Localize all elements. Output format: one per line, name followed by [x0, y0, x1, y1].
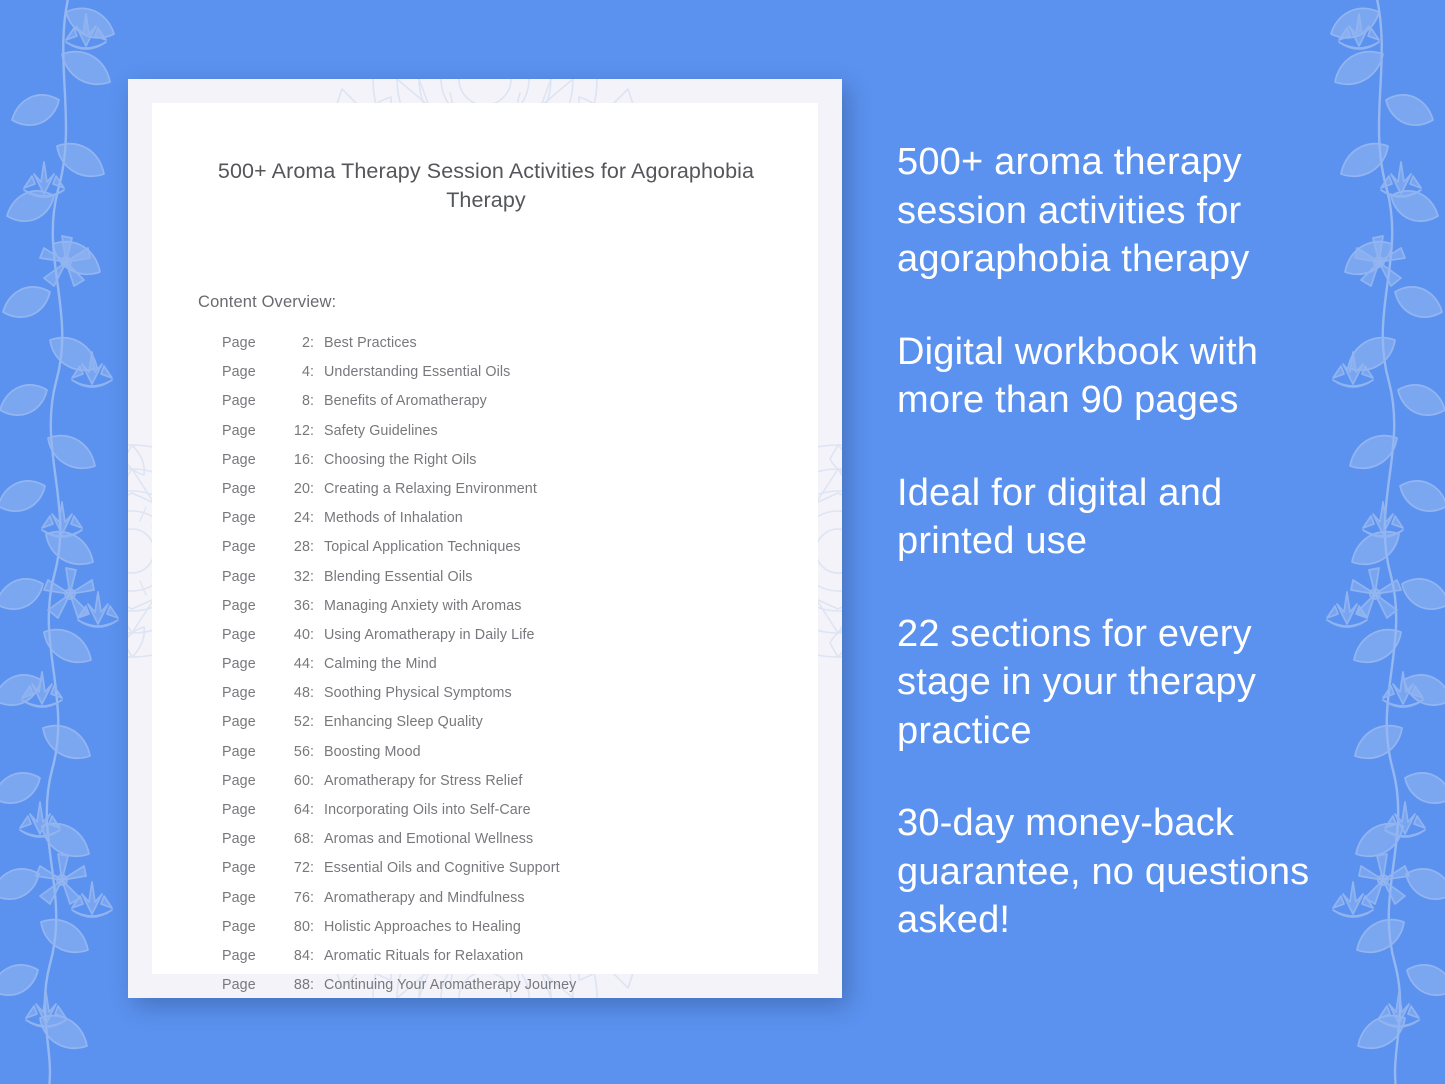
toc-entry-page-word: Page: [222, 621, 284, 650]
toc-entry-colon: :: [310, 563, 324, 592]
toc-entry: Page88:Continuing Your Aromatherapy Jour…: [222, 971, 782, 998]
toc-entry-colon: :: [310, 329, 324, 358]
toc-entry-page-number: 36: [284, 592, 310, 621]
toc-entry: Page36:Managing Anxiety with Aromas: [222, 592, 782, 621]
marketing-bullet: 500+ aroma therapy session activities fo…: [897, 138, 1327, 284]
toc-entry: Page64:Incorporating Oils into Self-Care: [222, 796, 782, 825]
toc-entry-page-word: Page: [222, 592, 284, 621]
toc-entry: Page84:Aromatic Rituals for Relaxation: [222, 942, 782, 971]
marketing-bullet: 30-day money-back guarantee, no question…: [897, 799, 1327, 945]
floral-vine-border-right-icon: [1315, 0, 1445, 1084]
toc-entry-page-number: 60: [284, 767, 310, 796]
toc-entry: Page28:Topical Application Techniques: [222, 533, 782, 562]
toc-entry-page-word: Page: [222, 942, 284, 971]
toc-entry-page-number: 24: [284, 504, 310, 533]
toc-entry-page-number: 4: [284, 358, 310, 387]
toc-entry-colon: :: [310, 592, 324, 621]
toc-entry-title: Continuing Your Aromatherapy Journey: [324, 977, 576, 993]
toc-entry-colon: :: [310, 738, 324, 767]
toc-entry: Page8:Benefits of Aromatherapy: [222, 387, 782, 416]
toc-entry-page-number: 16: [284, 446, 310, 475]
toc-entry: Page52:Enhancing Sleep Quality: [222, 708, 782, 737]
toc-entry-title: Best Practices: [324, 335, 417, 351]
toc-entry-title: Topical Application Techniques: [324, 539, 521, 555]
toc-entry-page-number: 72: [284, 854, 310, 883]
toc-entry-title: Benefits of Aromatherapy: [324, 393, 487, 409]
toc-entry-page-word: Page: [222, 796, 284, 825]
toc-entry-title: Soothing Physical Symptoms: [324, 685, 512, 701]
toc-entry: Page20:Creating a Relaxing Environment: [222, 475, 782, 504]
toc-entry-page-number: 44: [284, 650, 310, 679]
toc-entry: Page68:Aromas and Emotional Wellness: [222, 825, 782, 854]
toc-entry-colon: :: [310, 504, 324, 533]
toc-entry-title: Understanding Essential Oils: [324, 364, 510, 380]
toc-entry-page-word: Page: [222, 446, 284, 475]
toc-entry-title: Aromatherapy and Mindfulness: [324, 890, 525, 906]
toc-entry: Page80:Holistic Approaches to Healing: [222, 913, 782, 942]
toc-entry-title: Blending Essential Oils: [324, 569, 473, 585]
toc-entry-page-number: 80: [284, 913, 310, 942]
toc-entry-page-number: 68: [284, 825, 310, 854]
listing-background: 500+ Aroma Therapy Session Activities fo…: [0, 0, 1445, 1084]
toc-entry: Page60:Aromatherapy for Stress Relief: [222, 767, 782, 796]
toc-entry: Page40:Using Aromatherapy in Daily Life: [222, 621, 782, 650]
toc-entry-page-number: 88: [284, 971, 310, 998]
toc-entry-title: Incorporating Oils into Self-Care: [324, 802, 531, 818]
toc-entry-colon: :: [310, 825, 324, 854]
toc-entry-page-number: 64: [284, 796, 310, 825]
toc-entry-title: Boosting Mood: [324, 744, 421, 760]
toc-entry-page-word: Page: [222, 738, 284, 767]
toc-entry-page-word: Page: [222, 650, 284, 679]
toc-entry-colon: :: [310, 679, 324, 708]
toc-entry-colon: :: [310, 475, 324, 504]
toc-entry-colon: :: [310, 884, 324, 913]
toc-entry-page-number: 2: [284, 329, 310, 358]
toc-entry-page-word: Page: [222, 329, 284, 358]
toc-entry-page-number: 56: [284, 738, 310, 767]
toc-entry-colon: :: [310, 767, 324, 796]
toc-entry-page-number: 20: [284, 475, 310, 504]
marketing-bullet: 22 sections for every stage in your ther…: [897, 610, 1327, 756]
page-title: 500+ Aroma Therapy Session Activities fo…: [198, 157, 774, 215]
toc-entry-page-word: Page: [222, 533, 284, 562]
toc-entry-colon: :: [310, 854, 324, 883]
toc-entry-title: Aromas and Emotional Wellness: [324, 831, 533, 847]
toc-entry-colon: :: [310, 971, 324, 998]
table-of-contents: Page2:Best PracticesPage4:Understanding …: [222, 329, 782, 998]
toc-entry-title: Methods of Inhalation: [324, 510, 463, 526]
toc-entry-page-word: Page: [222, 358, 284, 387]
toc-entry-page-word: Page: [222, 475, 284, 504]
toc-entry-page-word: Page: [222, 563, 284, 592]
toc-entry-page-number: 12: [284, 417, 310, 446]
toc-entry-colon: :: [310, 796, 324, 825]
toc-entry-page-word: Page: [222, 854, 284, 883]
toc-entry-colon: :: [310, 387, 324, 416]
toc-entry-colon: :: [310, 913, 324, 942]
toc-entry: Page12:Safety Guidelines: [222, 417, 782, 446]
toc-entry-title: Safety Guidelines: [324, 423, 438, 439]
toc-entry-page-number: 52: [284, 708, 310, 737]
toc-entry: Page4:Understanding Essential Oils: [222, 358, 782, 387]
toc-entry-title: Creating a Relaxing Environment: [324, 481, 537, 497]
toc-entry-page-word: Page: [222, 767, 284, 796]
toc-entry: Page44:Calming the Mind: [222, 650, 782, 679]
toc-entry-page-word: Page: [222, 417, 284, 446]
toc-entry-colon: :: [310, 621, 324, 650]
toc-entry-title: Calming the Mind: [324, 656, 437, 672]
marketing-bullet: Ideal for digital and printed use: [897, 469, 1327, 566]
toc-entry: Page48:Soothing Physical Symptoms: [222, 679, 782, 708]
toc-entry-title: Holistic Approaches to Healing: [324, 919, 521, 935]
toc-entry: Page72:Essential Oils and Cognitive Supp…: [222, 854, 782, 883]
workbook-preview-card: 500+ Aroma Therapy Session Activities fo…: [128, 79, 842, 998]
toc-entry-colon: :: [310, 708, 324, 737]
toc-entry: Page32:Blending Essential Oils: [222, 563, 782, 592]
toc-entry-colon: :: [310, 417, 324, 446]
toc-entry-page-word: Page: [222, 913, 284, 942]
toc-entry-title: Managing Anxiety with Aromas: [324, 598, 522, 614]
toc-entry-colon: :: [310, 650, 324, 679]
toc-entry-colon: :: [310, 533, 324, 562]
toc-entry-page-number: 28: [284, 533, 310, 562]
toc-entry-title: Essential Oils and Cognitive Support: [324, 860, 560, 876]
toc-entry-title: Aromatherapy for Stress Relief: [324, 773, 522, 789]
toc-entry-page-word: Page: [222, 504, 284, 533]
toc-entry-page-word: Page: [222, 387, 284, 416]
toc-entry-title: Aromatic Rituals for Relaxation: [324, 948, 523, 964]
toc-entry: Page76:Aromatherapy and Mindfulness: [222, 884, 782, 913]
toc-entry-page-number: 40: [284, 621, 310, 650]
toc-entry-colon: :: [310, 942, 324, 971]
toc-entry-page-word: Page: [222, 884, 284, 913]
toc-entry-page-word: Page: [222, 971, 284, 998]
toc-entry: Page2:Best Practices: [222, 329, 782, 358]
workbook-page-sheet: 500+ Aroma Therapy Session Activities fo…: [152, 103, 818, 974]
toc-entry-title: Choosing the Right Oils: [324, 452, 477, 468]
toc-entry-page-number: 32: [284, 563, 310, 592]
toc-entry-title: Using Aromatherapy in Daily Life: [324, 627, 535, 643]
toc-entry-colon: :: [310, 358, 324, 387]
toc-entry-page-word: Page: [222, 708, 284, 737]
toc-entry: Page56:Boosting Mood: [222, 738, 782, 767]
toc-entry-title: Enhancing Sleep Quality: [324, 714, 483, 730]
marketing-bullet: Digital workbook with more than 90 pages: [897, 328, 1327, 425]
toc-entry-page-number: 76: [284, 884, 310, 913]
floral-vine-border-left-icon: [0, 0, 130, 1084]
toc-entry-page-number: 84: [284, 942, 310, 971]
toc-entry-colon: :: [310, 446, 324, 475]
toc-entry: Page16:Choosing the Right Oils: [222, 446, 782, 475]
toc-entry-page-number: 48: [284, 679, 310, 708]
toc-entry-page-number: 8: [284, 387, 310, 416]
toc-entry: Page24:Methods of Inhalation: [222, 504, 782, 533]
toc-entry-page-word: Page: [222, 825, 284, 854]
content-overview-label: Content Overview:: [198, 293, 336, 312]
marketing-bullet-list: 500+ aroma therapy session activities fo…: [897, 138, 1327, 945]
toc-entry-page-word: Page: [222, 679, 284, 708]
